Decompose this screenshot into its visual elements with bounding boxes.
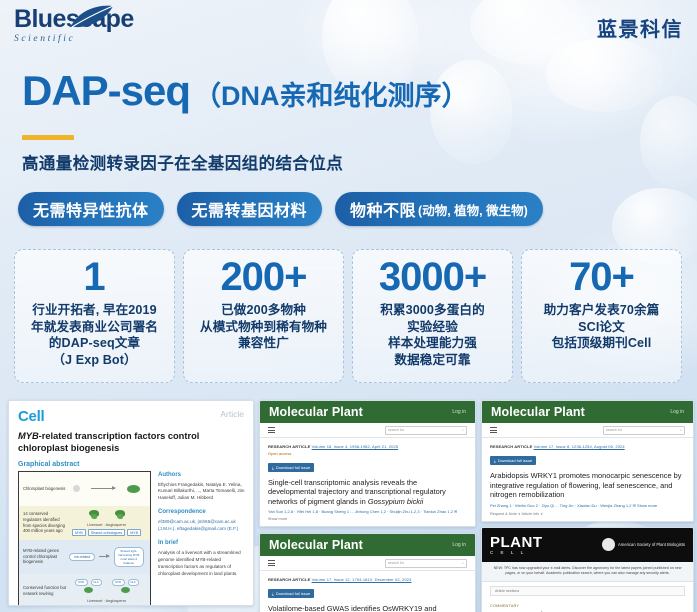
download-label: Download full issue [276, 465, 310, 470]
login-link[interactable]: Log in [670, 409, 684, 415]
section-heading: In brief [158, 539, 245, 548]
stat-description: 积累3000多蛋白的 实验经验 样本处理能力强 数据稳定可靠 [380, 302, 485, 369]
journal-header: Molecular Plant Log in [260, 401, 475, 423]
stat-line: 包括顶级期刊Cell [544, 335, 660, 352]
band-caption: Liverwort · Angiosperm [87, 523, 126, 527]
stat-number: 1 [83, 256, 105, 298]
chip-mid: Shared orthologues [88, 529, 125, 536]
hamburger-menu-icon[interactable] [268, 559, 275, 568]
feature-pill[interactable]: 无需特异性抗体 [18, 192, 164, 226]
article-type-label: RESEARCH ARTICLE [268, 577, 310, 582]
paper-thumbnail-molecular-plant-1[interactable]: Molecular Plant Log in search for ⌕ RESE… [259, 400, 476, 527]
stat-line: 年就发表商业公司署名 [31, 319, 158, 336]
search-placeholder: search for [388, 428, 404, 432]
article-type-label: RESEARCH ARTICLE [268, 444, 310, 449]
article-type-label: COMMENTARY [490, 604, 685, 608]
band-artwork: mb-related Shared light-harvesting MYB m… [67, 543, 146, 571]
download-icon: ⤓ [272, 465, 274, 470]
abstract-band: Chloroplast biogenesis [19, 472, 150, 506]
paper-body: RESEARCH ARTICLE Volume 17, Issue 12, 17… [260, 571, 475, 612]
logo-tagline: Scientific [14, 34, 164, 44]
title-accent-rule [22, 135, 74, 140]
stat-description: 助力客户发表70余篇 SCI论文 包括顶级期刊Cell [544, 302, 660, 352]
title-en: DAP-seq [22, 70, 190, 112]
download-icon: ⤓ [494, 458, 496, 463]
section-text: ef389@cam.ac.uk, jmh65@cam.ac.uk (J.M.H.… [158, 519, 245, 533]
download-label: Download full issue [498, 458, 532, 463]
hamburger-menu-icon[interactable] [268, 426, 275, 435]
search-icon[interactable]: ⌕ [462, 561, 464, 565]
band-label: Conserved function but network rewiring [23, 585, 67, 596]
abstract-band: Conserved function but network rewiring … [19, 574, 150, 606]
journal-toolbar: search for ⌕ [260, 556, 475, 571]
journal-logo-plant-cell: PLANT C E L L [490, 535, 543, 556]
breadcrumb-box[interactable]: Article sections [490, 586, 685, 596]
stat-line: 积累3000多蛋白的 [380, 302, 485, 319]
download-button[interactable]: ⤓ Download full issue [268, 463, 314, 472]
article-type-label: RESEARCH ARTICLE [490, 444, 532, 449]
network-node: MYB [75, 579, 88, 586]
chip-left: MYB [72, 529, 86, 536]
chloroplast-glyph [84, 587, 93, 593]
feature-pill[interactable]: 物种不限 (动物, 植物, 微生物) [335, 192, 543, 226]
band-caption: Liverwort · Angiosperm [87, 599, 126, 603]
download-label: Download full issue [276, 591, 310, 596]
search-input[interactable]: search for ⌕ [603, 426, 685, 435]
page-header: Bluescape Scientific 蓝景科信 [0, 0, 697, 58]
paper-body: COMMENTARY The transcription factor MdWR… [482, 600, 693, 612]
stat-line: 数据稳定可靠 [380, 352, 485, 369]
paper-meta: RESEARCH ARTICLE Volume 18, Issue 4, 195… [268, 444, 467, 449]
abstract-band: 14 conserved regulators identified from … [19, 506, 150, 540]
oval-node: mb-related [69, 553, 95, 561]
paper-title[interactable]: Single-cell transcriptomic analysis reve… [268, 478, 467, 507]
stat-number: 70+ [569, 256, 634, 298]
section-text: Analysis of a liverwort with a streamlin… [158, 550, 245, 578]
download-button[interactable]: ⤓ Download full issue [268, 589, 314, 598]
section-heading: Authors [158, 471, 245, 480]
arrow-icon [91, 488, 115, 489]
paper-thumbnail-molecular-plant-3[interactable]: Molecular Plant Log in search for ⌕ RESE… [481, 400, 694, 522]
paper-authors: Pei Zhang 1 · Weilin Guo 2 · Ziyu Qi ...… [490, 503, 685, 509]
stat-card-list: 1 行业开拓者, 早在2019 年就发表商业公司署名 的DAP-seq文章 （J… [14, 249, 682, 383]
cn-brand-name: 蓝景科信 [597, 13, 683, 42]
issue-link[interactable]: Volume 17, Issue 8, 1236-1254, August 05… [534, 444, 625, 449]
paper-thumbnail-cell[interactable]: Cell Article MYB-related transcription f… [8, 400, 254, 606]
stat-line: 的DAP-seq文章 [31, 335, 158, 352]
pill-note: (动物, 植物, 微生物) [418, 200, 528, 219]
journal-header: PLANT C E L L American Society of Plant … [482, 528, 693, 562]
paper-meta: RESEARCH ARTICLE Volume 17, Issue 8, 123… [490, 444, 685, 449]
search-input[interactable]: search for ⌕ [385, 559, 467, 568]
paper-body: RESEARCH ARTICLE Volume 17, Issue 8, 123… [482, 438, 693, 521]
chloroplast-glyph [127, 485, 140, 493]
journal-logo-molecular-plant: Molecular Plant [491, 405, 585, 419]
graphical-abstract-label: Graphical abstract [18, 461, 245, 468]
title-cn: （DNA亲和纯化测序） [194, 83, 469, 110]
band-artwork [67, 475, 146, 503]
paper-authors: Yan Sun 1,2,8 · Yifei Hei 1,8 · Buang Sh… [268, 509, 467, 515]
journal-header: Molecular Plant Log in [260, 534, 475, 556]
paper-title: MYB-related transcription factors contro… [18, 430, 245, 455]
band-label: 14 conserved regulators identified from … [23, 511, 67, 534]
stat-card: 1 行业开拓者, 早在2019 年就发表商业公司署名 的DAP-seq文章 （J… [14, 249, 175, 383]
journal-header: Molecular Plant Log in [482, 401, 693, 423]
stat-description: 已做200多物种 从模式物种到稀有物种 兼容性广 [200, 302, 327, 352]
band-artwork: MYB GLK MYB GLK [67, 577, 146, 605]
leaf-icon [69, 4, 115, 30]
stat-line: 实验经验 [380, 319, 485, 336]
network-node: MYB [112, 579, 125, 586]
paper-meta: RESEARCH ARTICLE Volume 17, Issue 12, 17… [268, 577, 467, 582]
angiosperm-glyph [114, 509, 126, 520]
stat-card: 200+ 已做200多物种 从模式物种到稀有物种 兼容性广 [183, 249, 344, 383]
stat-line: 助力客户发表70余篇 [544, 302, 660, 319]
section-text: Eftychios Frangedakis, Natalya E. Yelina… [158, 482, 245, 503]
chip-right: MYB [127, 529, 141, 536]
issue-link[interactable]: Volume 17, Issue 12, 1794-1810, December… [312, 577, 412, 582]
publication-column-right: Molecular Plant Log in search for ⌕ RESE… [481, 400, 694, 612]
poster-root: Bluescape Scientific 蓝景科信 DAP-seq （DNA亲和… [0, 0, 697, 612]
open-access-badge: Open access [268, 451, 467, 456]
search-placeholder: search for [606, 428, 622, 432]
network-node: GLK [91, 579, 102, 586]
page-subtitle: 高通量检测转录因子在全基因组的结合位点 [22, 150, 343, 174]
network-node: GLK [128, 579, 139, 586]
society-badge: American Society of Plant Biologists [602, 538, 685, 551]
stat-line: 行业开拓者, 早在2019 [31, 302, 158, 319]
publication-gallery: Cell Article MYB-related transcription f… [8, 400, 694, 612]
band-label: MYB-related genes control chloroplast bi… [23, 548, 67, 565]
stat-line: （J Exp Bot） [31, 352, 158, 369]
paper-title-italic: MYB [18, 431, 39, 441]
article-type-label: Article [220, 409, 244, 419]
circle-glyph [73, 485, 80, 492]
society-seal-icon [602, 538, 615, 551]
stat-line: SCI论文 [544, 319, 660, 336]
decorative-blob [640, 96, 697, 188]
show-more-link[interactable]: Show more [268, 517, 467, 521]
stat-number: 200+ [220, 256, 306, 298]
chloroplast-glyph [121, 587, 130, 593]
feature-pill[interactable]: 无需转基因材料 [177, 192, 323, 226]
stat-line: 已做200多物种 [200, 302, 327, 319]
journal-logo-molecular-plant: Molecular Plant [269, 405, 363, 419]
stat-card: 70+ 助力客户发表70余篇 SCI论文 包括顶级期刊Cell [521, 249, 682, 383]
stat-description: 行业开拓者, 早在2019 年就发表商业公司署名 的DAP-seq文章 （J E… [31, 302, 158, 369]
paper-thumbnail-molecular-plant-2[interactable]: Molecular Plant Log in search for ⌕ RESE… [259, 533, 476, 612]
login-link[interactable]: Log in [452, 542, 466, 548]
journal-logo-main: PLANT [490, 534, 543, 551]
stat-number: 3000+ [379, 256, 486, 298]
issue-link[interactable]: Volume 18, Issue 4, 1958-1982, April 21,… [312, 444, 399, 449]
cell-card-body: Chloroplast biogenesis 14 conserved regu… [18, 471, 245, 606]
abstract-band: MYB-related genes control chloroplast bi… [19, 540, 150, 574]
paper-title-rest: -related transcription factors control c… [18, 431, 199, 453]
graphical-abstract-figure: Chloroplast biogenesis 14 conserved regu… [18, 471, 151, 606]
paper-title[interactable]: Volatilome-based GWAS identifies OsWRKY1… [268, 604, 467, 612]
paper-title-italic: Gossypium bickii [368, 497, 423, 506]
hamburger-menu-icon[interactable] [490, 426, 497, 435]
stat-line: 兼容性广 [200, 335, 327, 352]
pill-label: 物种不限 [350, 197, 416, 221]
download-button[interactable]: ⤓ Download full issue [490, 456, 536, 465]
publication-column-middle: Molecular Plant Log in search for ⌕ RESE… [259, 400, 476, 612]
page-title: DAP-seq （DNA亲和纯化测序） [22, 70, 469, 112]
login-link[interactable]: Log in [452, 409, 466, 415]
paper-footer-links[interactable]: Request & Note ∨ Article info ∨ [490, 511, 685, 516]
journal-logo-cell: Cell [18, 408, 245, 425]
search-input[interactable]: search for ⌕ [385, 426, 467, 435]
stat-card: 3000+ 积累3000多蛋白的 实验经验 样本处理能力强 数据稳定可靠 [352, 249, 513, 383]
journal-toolbar: search for ⌕ [482, 423, 693, 438]
brand-logo: Bluescape Scientific [14, 7, 164, 44]
search-icon[interactable]: ⌕ [462, 428, 464, 432]
breadcrumb: Article sections [482, 582, 693, 600]
publication-column-left: Cell Article MYB-related transcription f… [8, 400, 254, 612]
paper-body: RESEARCH ARTICLE Volume 18, Issue 4, 195… [260, 438, 475, 526]
stat-line: 样本处理能力强 [380, 335, 485, 352]
feature-pill-list: 无需特异性抗体 无需转基因材料 物种不限 (动物, 植物, 微生物) [18, 192, 543, 226]
paper-title[interactable]: Arabidopsis WRKY1 promotes monocarpic se… [490, 471, 685, 500]
journal-logo-molecular-plant: Molecular Plant [269, 538, 363, 552]
stat-line: 从模式物种到稀有物种 [200, 319, 327, 336]
search-placeholder: search for [388, 561, 404, 565]
band-label: Chloroplast biogenesis [23, 486, 67, 492]
liverwort-glyph [88, 509, 100, 520]
site-notice: NEW: TPC has now upgraded your e-mail al… [482, 562, 693, 582]
search-icon[interactable]: ⌕ [680, 428, 682, 432]
section-heading: Correspondence [158, 508, 245, 517]
society-name: American Society of Plant Biologists [618, 542, 685, 548]
band-artwork: Liverwort · Angiosperm MYB Shared orthol… [67, 509, 146, 537]
pill-label: 无需特异性抗体 [33, 197, 149, 221]
cell-sidebar: Authors Eftychios Frangedakis, Natalya E… [158, 471, 245, 606]
arrow-icon [99, 556, 109, 557]
paper-thumbnail-plant-cell[interactable]: PLANT C E L L American Society of Plant … [481, 527, 694, 612]
journal-toolbar: search for ⌕ [260, 423, 475, 438]
oval-note: Shared light-harvesting MYB motif Helix-… [114, 547, 144, 567]
journal-logo-sub: C E L L [490, 551, 543, 556]
download-icon: ⤓ [272, 591, 274, 596]
pill-label: 无需转基因材料 [192, 197, 308, 221]
